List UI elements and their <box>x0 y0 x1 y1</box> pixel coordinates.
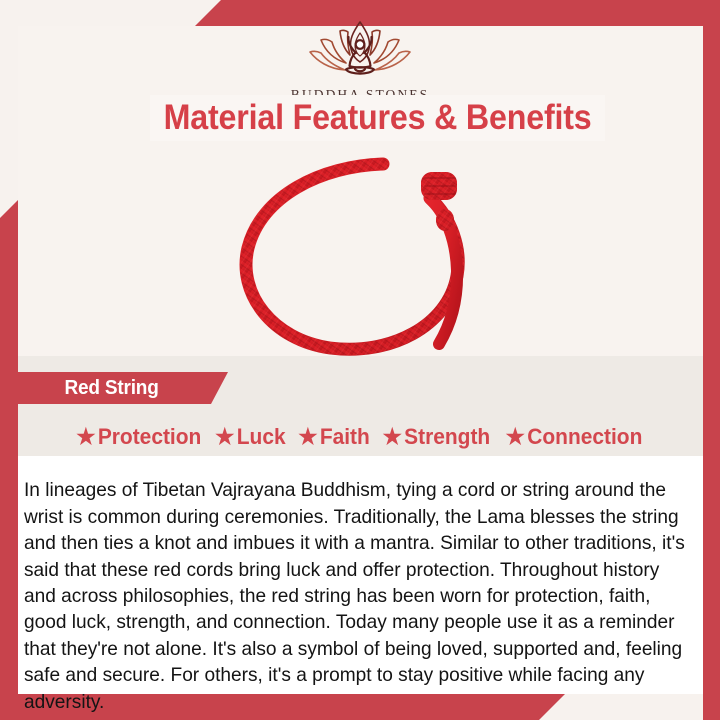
benefit-label: Protection <box>98 424 201 450</box>
benefit-label: Luck <box>237 424 286 450</box>
infographic-poster: BUDDHA STONES Material Features & Benefi… <box>0 0 720 720</box>
benefit-item: ★ Strength <box>383 424 490 450</box>
decorative-band-right <box>703 26 720 720</box>
benefits-row: ★ Protection ★ Luck ★ Faith ★ Strength ★… <box>18 420 702 454</box>
product-image <box>215 148 515 358</box>
star-icon: ★ <box>298 426 317 448</box>
product-label: Red String <box>64 377 158 400</box>
benefit-label: Faith <box>319 424 369 450</box>
benefit-label: Strength <box>404 424 490 450</box>
lotus-meditation-icon <box>304 18 416 84</box>
product-label-banner: Red String <box>0 372 228 404</box>
benefit-label: Connection <box>528 424 643 450</box>
star-icon: ★ <box>383 426 402 448</box>
description-text: In lineages of Tibetan Vajrayana Buddhis… <box>24 477 686 715</box>
title-banner: Material Features & Benefits <box>150 95 605 141</box>
star-icon: ★ <box>76 426 95 448</box>
benefit-item: ★ Faith <box>298 424 369 450</box>
benefit-item: ★ Connection <box>506 424 642 450</box>
star-icon: ★ <box>506 426 525 448</box>
brand-logo: BUDDHA STONES <box>0 18 720 103</box>
star-icon: ★ <box>215 426 234 448</box>
benefit-item: ★ Luck <box>216 424 286 450</box>
page-title: Material Features & Benefits <box>164 98 592 138</box>
benefit-item: ★ Protection <box>77 424 202 450</box>
decorative-band-left <box>0 200 18 720</box>
